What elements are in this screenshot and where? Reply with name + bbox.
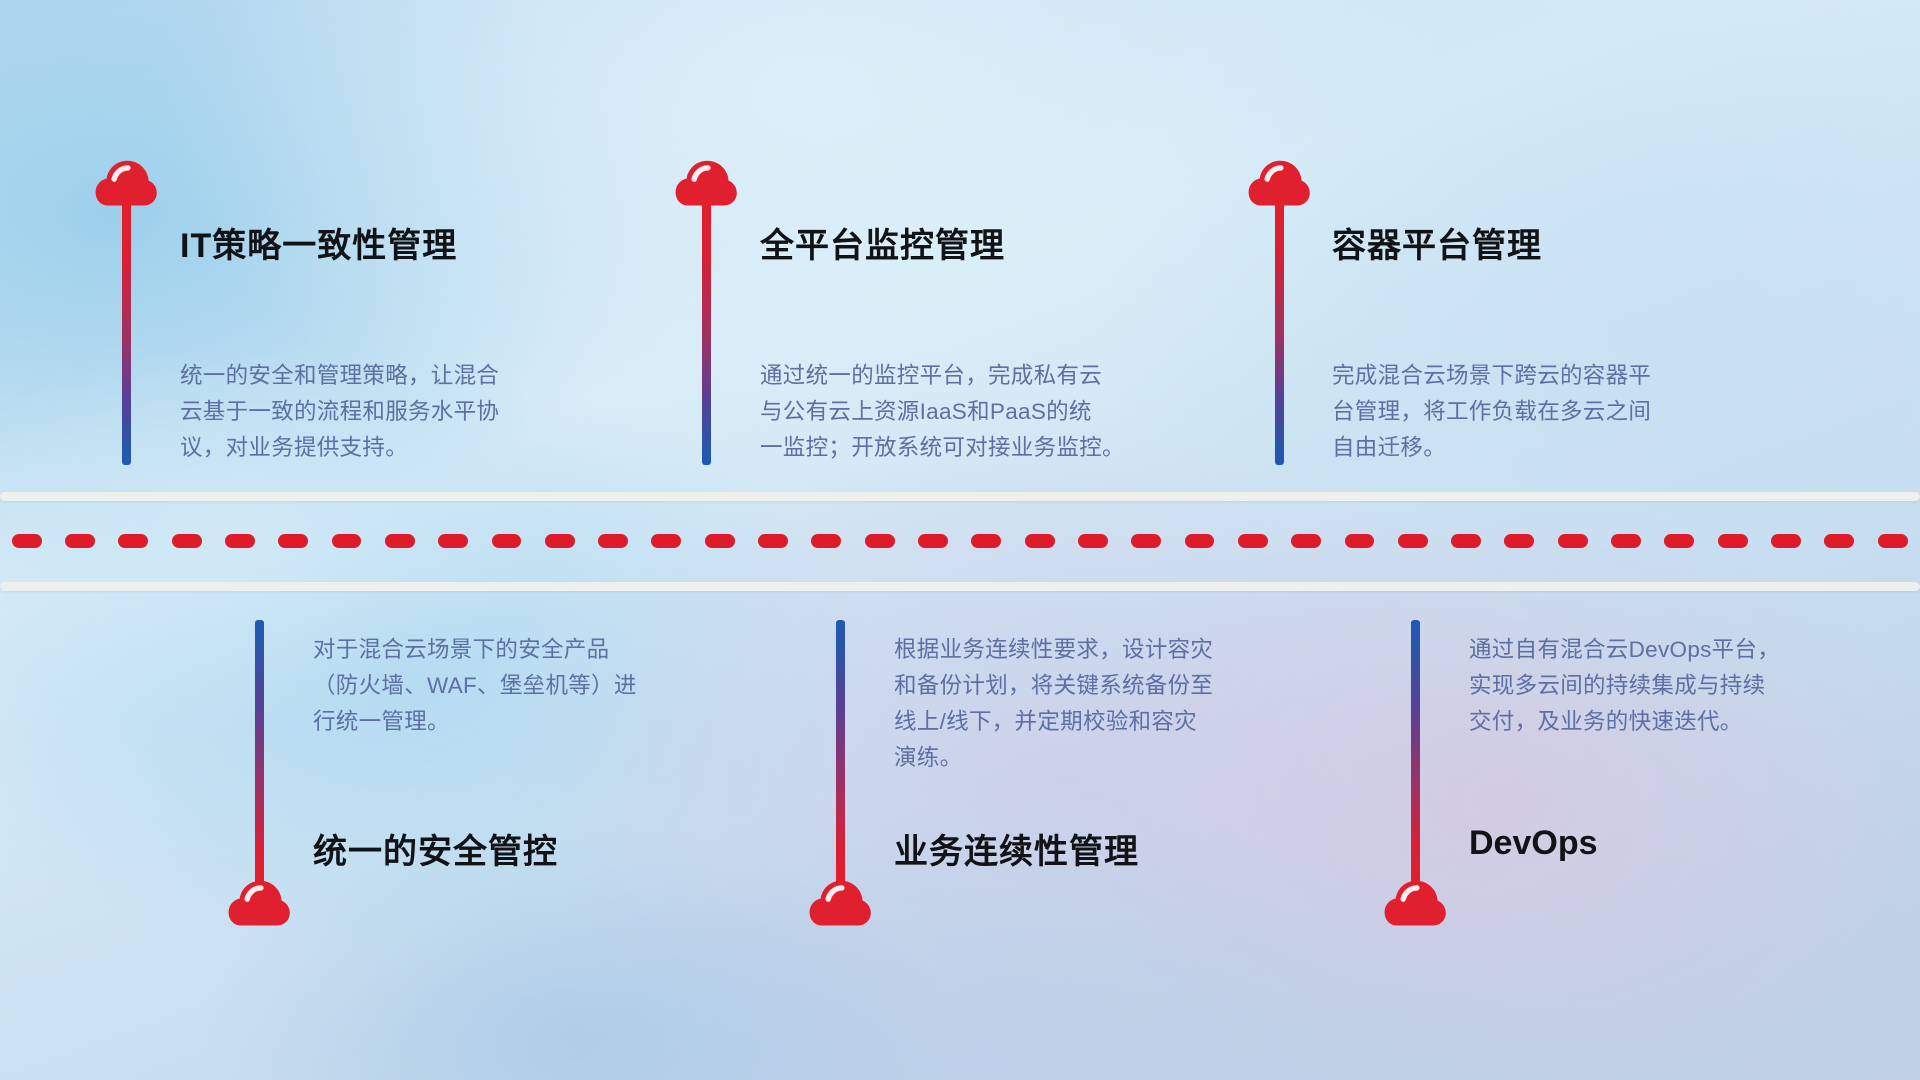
road-center-dash — [1131, 534, 1161, 548]
road-center-dash — [1078, 534, 1108, 548]
road-center-dash — [1398, 534, 1428, 548]
road-edge-bottom — [0, 582, 1920, 591]
road-center-dash — [172, 534, 202, 548]
road-center-dash — [1451, 534, 1481, 548]
road-edge-top — [0, 492, 1920, 501]
road-center-dash — [651, 534, 681, 548]
top-column-3-body: 完成混合云场景下跨云的容器平 台管理，将工作负载在多云之间 自由迁移。 — [1332, 358, 1782, 466]
stem-connector — [1275, 200, 1284, 465]
road-center-dash — [118, 534, 148, 548]
road-center-dash — [1664, 534, 1694, 548]
road-center-dash — [811, 534, 841, 548]
top-column-2-body: 通过统一的监控平台，完成私有云 与公有云上资源IaaS和PaaS的统 一监控；开… — [760, 358, 1220, 466]
top-column-1-title: IT策略一致性管理 — [180, 218, 457, 267]
road-center-dash — [705, 534, 735, 548]
road-center-dash — [1771, 534, 1801, 548]
top-column-3-title: 容器平台管理 — [1332, 218, 1542, 267]
stem-connector — [122, 200, 131, 465]
road-center-dash — [385, 534, 415, 548]
bottom-column-1-body: 对于混合云场景下的安全产品 （防火墙、WAF、堡垒机等）进 行统一管理。 — [313, 632, 753, 740]
bottom-column-1-title: 统一的安全管控 — [313, 824, 558, 873]
road-center-dash — [1611, 534, 1641, 548]
road-center-dashes — [0, 534, 1920, 548]
road-center-dash — [278, 534, 308, 548]
road-center-dash — [332, 534, 362, 548]
road-center-dash — [65, 534, 95, 548]
road-center-dash — [1025, 534, 1055, 548]
road-center-dash — [1718, 534, 1748, 548]
road-center-dash — [492, 534, 522, 548]
road-center-dash — [1291, 534, 1321, 548]
stem-connector — [836, 620, 845, 885]
road-center-dash — [1345, 534, 1375, 548]
road-center-dash — [438, 534, 468, 548]
road-center-dash — [1878, 534, 1908, 548]
road-center-dash — [1558, 534, 1588, 548]
bottom-column-3-body: 通过自有混合云DevOps平台， 实现多云间的持续集成与持续 交付，及业务的快速… — [1469, 632, 1909, 740]
infographic-canvas: IT策略一致性管理 统一的安全和管理策略，让混合 云基于一致的流程和服务水平协 … — [0, 0, 1920, 1080]
stem-connector — [255, 620, 264, 885]
road-center-dash — [971, 534, 1001, 548]
road-center-dash — [918, 534, 948, 548]
road-center-dash — [758, 534, 788, 548]
top-column-1-body: 统一的安全和管理策略，让混合 云基于一致的流程和服务水平协 议，对业务提供支持。 — [180, 358, 620, 466]
road-center-dash — [1824, 534, 1854, 548]
road-center-dash — [1504, 534, 1534, 548]
bottom-column-3-title: DevOps — [1469, 824, 1598, 863]
road-center-dash — [1185, 534, 1215, 548]
bottom-column-2-title: 业务连续性管理 — [894, 824, 1139, 873]
cloud-icon — [1384, 880, 1446, 928]
top-column-2-title: 全平台监控管理 — [760, 218, 1005, 267]
road-center-dash — [1238, 534, 1268, 548]
cloud-icon — [228, 880, 290, 928]
stem-connector — [1411, 620, 1420, 885]
stem-connector — [702, 200, 711, 465]
road-center-dash — [12, 534, 42, 548]
road-center-dash — [545, 534, 575, 548]
cloud-icon — [809, 880, 871, 928]
bottom-column-2-body: 根据业务连续性要求，设计容灾 和备份计划，将关键系统备份至 线上/线下，并定期校… — [894, 632, 1334, 776]
road-center-dash — [225, 534, 255, 548]
road-center-dash — [598, 534, 628, 548]
road-center-dash — [865, 534, 895, 548]
